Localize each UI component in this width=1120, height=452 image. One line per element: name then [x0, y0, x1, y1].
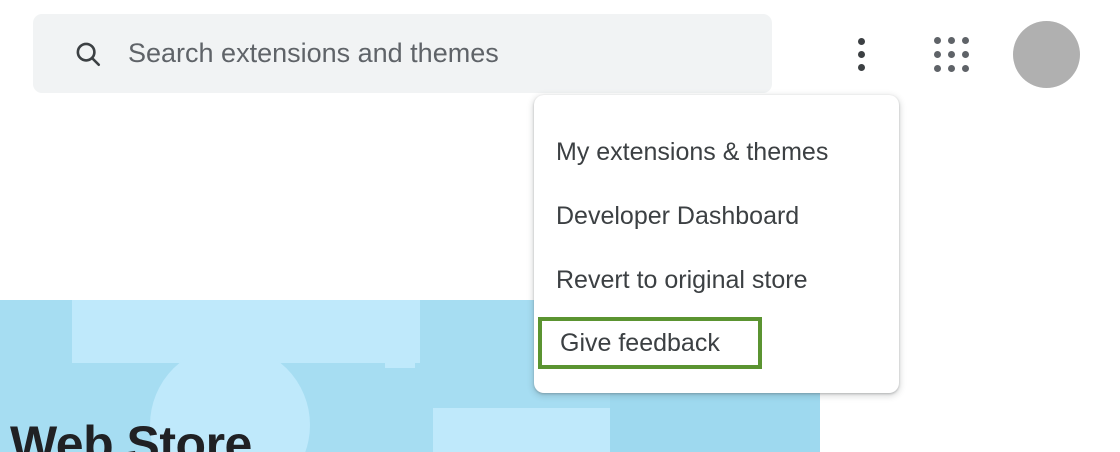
menu-item-give-feedback[interactable]: Give feedback — [538, 317, 762, 369]
apps-grid-icon — [934, 37, 969, 72]
menu-item-label: My extensions & themes — [556, 138, 828, 167]
menu-item-developer-dashboard[interactable]: Developer Dashboard — [534, 192, 899, 240]
search-input[interactable] — [128, 14, 758, 93]
more-options-button[interactable] — [837, 30, 885, 78]
page-header — [0, 0, 1120, 108]
web-store-page: Web Store My extensions & — [0, 0, 1120, 452]
banner-title: Web Store — [10, 419, 252, 452]
menu-item-label: Revert to original store — [556, 266, 808, 295]
banner-decor-rect-bottom — [433, 408, 610, 452]
banner-decor-rect-left — [385, 300, 415, 368]
menu-item-label: Give feedback — [560, 329, 720, 358]
search-icon — [71, 37, 105, 71]
overflow-menu: My extensions & themes Developer Dashboa… — [534, 95, 899, 393]
more-vert-icon — [858, 38, 865, 71]
search-bar[interactable] — [33, 14, 772, 93]
google-apps-button[interactable] — [927, 30, 975, 78]
menu-item-revert-to-original-store[interactable]: Revert to original store — [534, 256, 899, 304]
menu-item-my-extensions-and-themes[interactable]: My extensions & themes — [534, 128, 899, 176]
avatar[interactable] — [1013, 21, 1080, 88]
menu-item-label: Developer Dashboard — [556, 202, 799, 231]
